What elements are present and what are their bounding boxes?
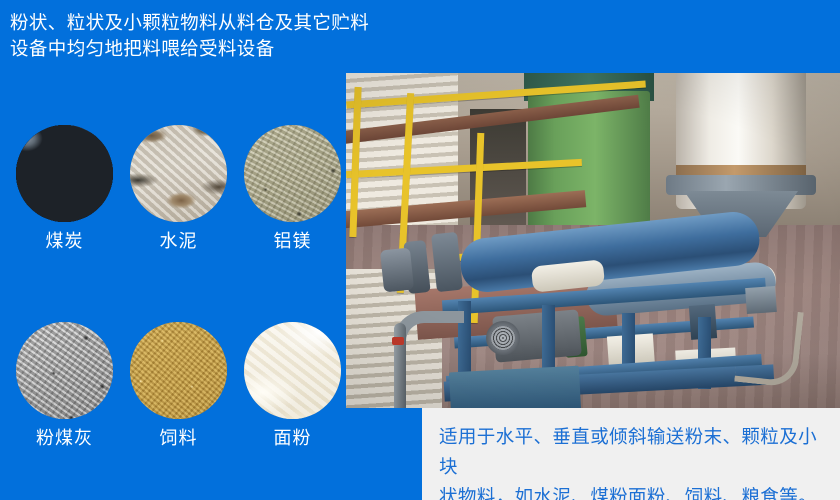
material-label: 水泥: [130, 231, 227, 251]
material-label: 粉煤灰: [16, 428, 113, 448]
material-item-aluminum-magnesium[interactable]: 铝镁: [244, 125, 341, 251]
page-title: 粉状、粒状及小颗粒物料从料仓及其它贮料 设备中均匀地把料喂给受料设备: [10, 10, 430, 62]
material-label: 煤炭: [16, 231, 113, 251]
material-item-feed[interactable]: 饲料: [130, 322, 227, 448]
material-item-coal[interactable]: 煤炭: [16, 125, 113, 251]
machine-photo: [346, 73, 840, 408]
material-row: 粉煤灰 饲料 面粉: [16, 322, 346, 448]
material-label: 铝镁: [244, 231, 341, 251]
coal-texture-icon: [16, 125, 113, 222]
material-grid: 煤炭 水泥 铝镁 粉煤灰 饲料 面粉: [16, 125, 346, 448]
caption-text: 适用于水平、垂直或倾斜输送粉末、颗粒及小块 状物料，如水泥、煤粉面粉、饲料、粮食…: [439, 422, 831, 500]
fly-ash-texture-icon: [16, 322, 113, 419]
feed-texture-icon: [130, 322, 227, 419]
material-label: 面粉: [244, 428, 341, 448]
banner-root: 粉状、粒状及小颗粒物料从料仓及其它贮料 设备中均匀地把料喂给受料设备 煤炭 水泥…: [0, 0, 840, 500]
material-row: 煤炭 水泥 铝镁: [16, 125, 346, 251]
material-item-cement[interactable]: 水泥: [130, 125, 227, 251]
caption-panel: 适用于水平、垂直或倾斜输送粉末、颗粒及小块 状物料，如水泥、煤粉面粉、饲料、粮食…: [415, 408, 840, 500]
cement-texture-icon: [130, 125, 227, 222]
material-label: 饲料: [130, 428, 227, 448]
caption-accent-bar: [415, 408, 422, 500]
aluminum-magnesium-texture-icon: [244, 125, 341, 222]
material-item-fly-ash[interactable]: 粉煤灰: [16, 322, 113, 448]
material-item-flour[interactable]: 面粉: [244, 322, 341, 448]
flour-texture-icon: [244, 322, 341, 419]
